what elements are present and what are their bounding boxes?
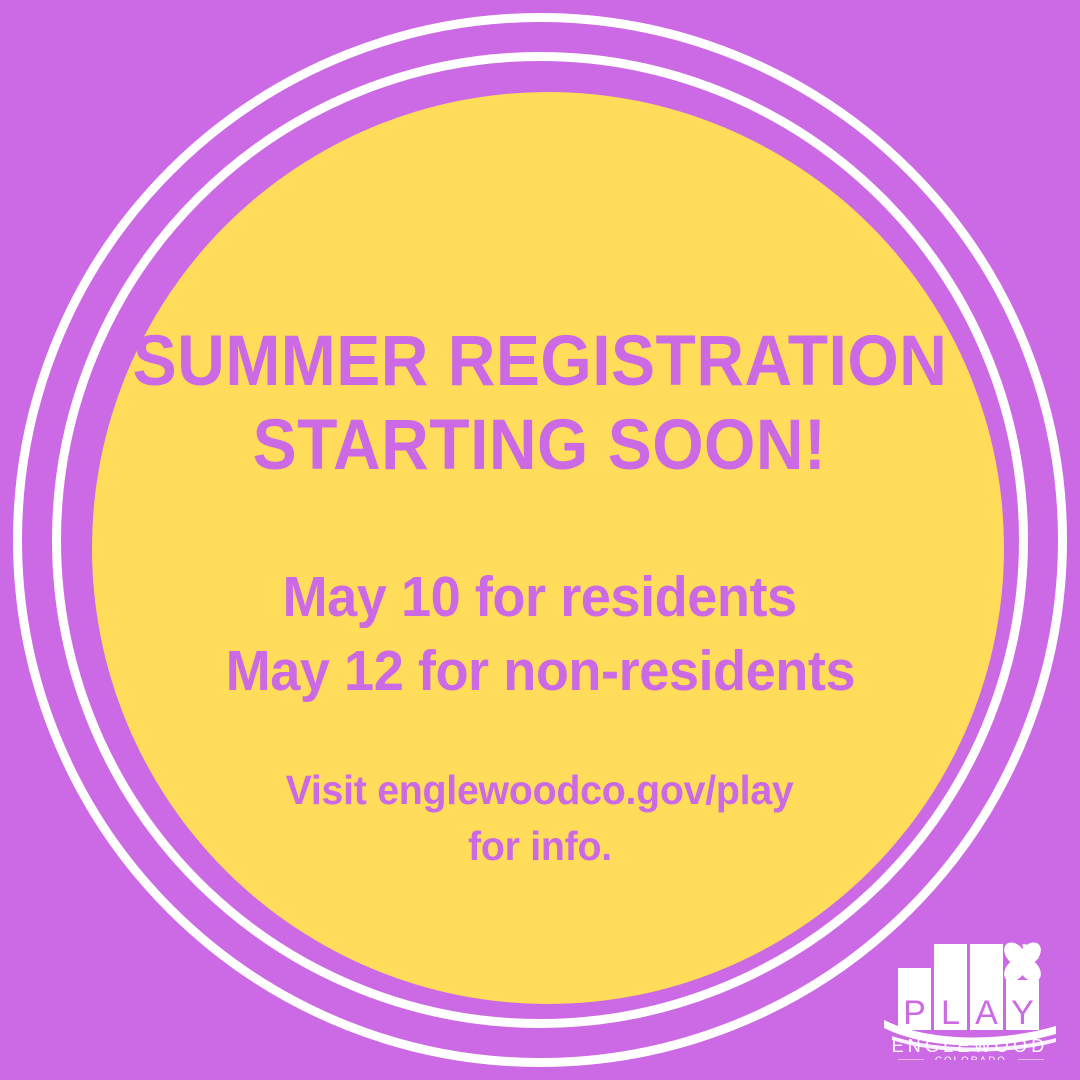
logo-state-name: COLORADO [935, 1055, 1007, 1060]
svg-text:A: A [975, 994, 998, 1032]
logo-rule-left [898, 1060, 924, 1061]
poster-content: SUMMER REGISTRATION STARTING SOON! May 1… [0, 0, 1080, 1080]
info-url-line: Visit englewoodco.gov/play [286, 762, 794, 818]
play-englewood-logo: P L A Y ENGLEWOOD COLORADO [884, 928, 1056, 1060]
logo-flower-icon [1000, 938, 1046, 985]
promo-poster: SUMMER REGISTRATION STARTING SOON! May 1… [0, 0, 1080, 1080]
headline-line-2: STARTING SOON! [253, 404, 827, 488]
info-suffix-line: for info. [468, 818, 612, 874]
logo-rule-right [1018, 1060, 1044, 1061]
logo-playlettering: P L A Y [903, 994, 1034, 1032]
svg-text:P: P [903, 994, 926, 1032]
non-resident-date-line: May 12 for non-residents [225, 634, 855, 708]
resident-date-line: May 10 for residents [283, 560, 797, 634]
logo-city-name: ENGLEWOOD [892, 1036, 1049, 1056]
svg-text:L: L [941, 994, 960, 1032]
svg-text:Y: Y [1011, 994, 1034, 1032]
headline-line-1: SUMMER REGISTRATION [133, 320, 948, 404]
